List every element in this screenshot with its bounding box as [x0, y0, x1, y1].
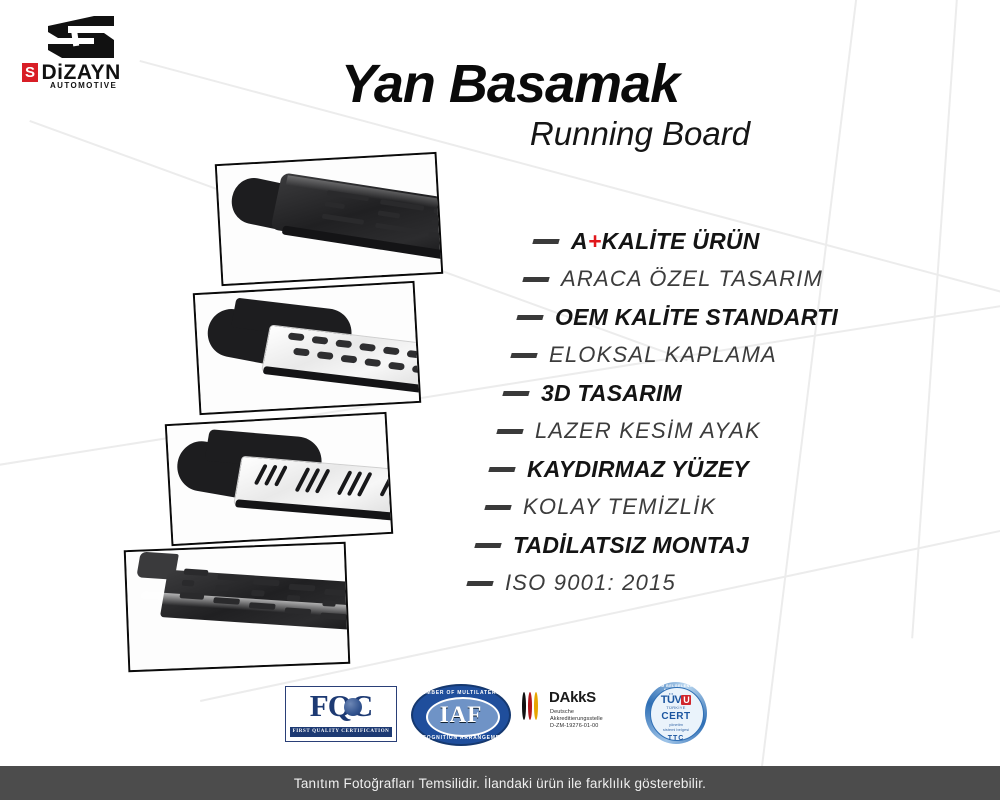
- tuv-footer-label: TTC: [645, 735, 707, 742]
- product-photo-3: [165, 412, 393, 546]
- globe-icon: [344, 698, 362, 716]
- feature-label: A+KALİTE ÜRÜN: [571, 228, 760, 255]
- dakks-certification-badge: DAkkS Deutsche Akkreditierungsstelle D-Z…: [522, 682, 634, 744]
- dash-bullet-icon: [488, 467, 515, 472]
- brand-tagline: AUTOMOTIVE: [50, 82, 117, 90]
- dash-bullet-icon: [502, 391, 529, 396]
- iaf-mark: IAF: [413, 696, 509, 734]
- dash-bullet-icon: [516, 315, 543, 320]
- feature-item: KAYDIRMAZ YÜZEY: [455, 450, 925, 488]
- fqc-mark: FQC: [286, 690, 396, 722]
- tuv-certification-badge: SİSTEM BELGELENDİRME KURULUŞU TÜVU TÜRKİ…: [645, 682, 707, 744]
- dash-bullet-icon: [510, 353, 537, 358]
- photo-canvas: [195, 283, 419, 413]
- feature-label: TADİLATSIZ MONTAJ: [513, 532, 749, 559]
- disclaimer-bar: Tanıtım Fotoğrafları Temsilidir. İlandak…: [0, 766, 1000, 800]
- product-photo-2: [193, 281, 421, 415]
- feature-item: ELOKSAL KAPLAMA: [455, 336, 925, 374]
- feature-item: LAZER KESİM AYAK: [455, 412, 925, 450]
- iaf-bottom-text: RECOGNITION ARRANGEMENT: [413, 735, 509, 741]
- brand-badge-letter: S: [22, 63, 38, 82]
- feature-item: 3D TASARIM: [455, 374, 925, 412]
- feature-item: A+KALİTE ÜRÜN: [455, 222, 925, 260]
- disclaimer-text: Tanıtım Fotoğrafları Temsilidir. İlandak…: [294, 776, 706, 791]
- dash-bullet-icon: [484, 505, 511, 510]
- feature-item: ARACA ÖZEL TASARIM: [455, 260, 925, 298]
- dash-bullet-icon: [522, 277, 549, 282]
- feature-label: OEM KALİTE STANDARTI: [555, 304, 838, 331]
- running-board-graphic: [170, 416, 393, 546]
- dash-bullet-icon: [532, 239, 559, 244]
- dakks-mark: DAkkS: [549, 690, 596, 706]
- tuv-brand-box: U: [681, 695, 691, 705]
- s-dizayn-monogram-icon: [42, 14, 120, 60]
- dakks-line-1: Deutsche: [550, 709, 574, 716]
- feature-label: LAZER KESİM AYAK: [535, 418, 761, 444]
- feature-label: ELOKSAL KAPLAMA: [549, 342, 777, 368]
- product-photo-4: [124, 542, 351, 672]
- feature-label: ISO 9001: 2015: [505, 570, 676, 596]
- feature-item: KOLAY TEMİZLİK: [455, 488, 925, 526]
- photo-canvas: [167, 414, 391, 544]
- plus-highlight: +: [588, 228, 602, 254]
- dash-bullet-icon: [496, 429, 523, 434]
- brand-logo: S DiZAYN AUTOMOTIVE: [18, 14, 158, 92]
- tuv-cert-label: CERT: [645, 711, 707, 722]
- feature-label: KOLAY TEMİZLİK: [523, 494, 716, 520]
- fqc-certification-badge: FQC FIRST QUALITY CERTIFICATION: [285, 682, 397, 744]
- tuv-sub: TÜRKİYE: [645, 705, 707, 710]
- dakks-line-2: Akkreditierungsstelle: [550, 716, 603, 723]
- product-photo-1: [215, 152, 443, 286]
- dash-bullet-icon: [474, 543, 501, 548]
- running-board-graphic: [223, 152, 443, 286]
- iaf-certification-badge: MEMBER OF MULTILATERAL IAF RECOGNITION A…: [411, 682, 507, 744]
- iaf-outer-ring: MEMBER OF MULTILATERAL IAF RECOGNITION A…: [411, 684, 511, 746]
- fqc-frame: FQC FIRST QUALITY CERTIFICATION: [285, 686, 397, 742]
- product-banner: S DiZAYN AUTOMOTIVE Yan Basamak Running …: [0, 0, 1000, 800]
- fqc-caption-bar: FIRST QUALITY CERTIFICATION: [290, 727, 392, 737]
- page-title: Yan Basamak: [300, 56, 720, 112]
- certification-badges: FQC FIRST QUALITY CERTIFICATION MEMBER O…: [285, 682, 715, 744]
- page-subtitle: Running Board: [470, 116, 810, 152]
- running-board-graphic: [200, 283, 422, 415]
- feature-item: ISO 9001: 2015: [455, 564, 925, 602]
- photo-canvas: [126, 544, 348, 670]
- feature-item: TADİLATSIZ MONTAJ: [455, 526, 925, 564]
- running-board-graphic: [126, 548, 350, 673]
- brand-wordmark: S DiZAYN: [22, 62, 121, 83]
- feature-label: 3D TASARIM: [541, 380, 682, 407]
- feature-label: ARACA ÖZEL TASARIM: [561, 266, 823, 292]
- photo-canvas: [217, 154, 441, 284]
- feature-list: A+KALİTE ÜRÜN ARACA ÖZEL TASARIM OEM KAL…: [455, 222, 925, 602]
- fqc-caption: FIRST QUALITY CERTIFICATION: [290, 727, 392, 737]
- dash-bullet-icon: [466, 581, 493, 586]
- feature-label: KAYDIRMAZ YÜZEY: [527, 456, 749, 483]
- dakks-line-3: D-ZM-19276-01-00: [550, 723, 598, 730]
- tuv-line-3: sistemi belgesi: [645, 727, 707, 732]
- feature-item: OEM KALİTE STANDARTI: [455, 298, 925, 336]
- tuv-outer-ring: SİSTEM BELGELENDİRME KURULUŞU TÜVU TÜRKİ…: [645, 682, 707, 744]
- dakks-wave-icon: [522, 692, 548, 720]
- brand-name: DiZAYN: [42, 62, 121, 83]
